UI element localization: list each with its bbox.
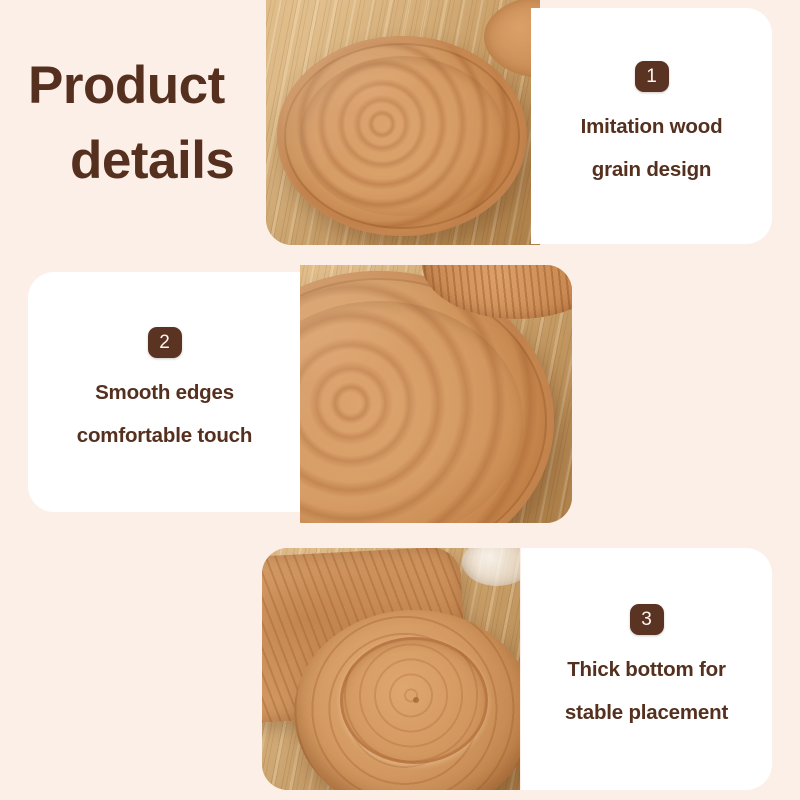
feature-text-1-line-1: Imitation wood bbox=[581, 106, 723, 148]
page-title: Product details bbox=[18, 48, 268, 199]
feature-text-3-line-2: stable placement bbox=[565, 692, 728, 734]
product-details-infographic: Product details 1 Imitation wood grain d… bbox=[0, 0, 800, 800]
feature-badge-2: 2 bbox=[148, 327, 182, 358]
plate-foot-ring bbox=[340, 637, 489, 765]
feature-photo-3 bbox=[262, 548, 520, 790]
feature-card-1: 1 Imitation wood grain design bbox=[531, 8, 772, 244]
feature-text-1: Imitation wood grain design bbox=[581, 106, 723, 190]
feature-text-1-line-2: grain design bbox=[581, 149, 723, 191]
feature-text-3: Thick bottom for stable placement bbox=[565, 649, 728, 733]
plate-center-mark bbox=[413, 697, 419, 703]
feature-card-3: 3 Thick bottom for stable placement bbox=[521, 548, 772, 790]
page-title-line-1: Product bbox=[18, 48, 268, 123]
plate-gloss bbox=[277, 36, 527, 236]
feature-text-2-line-1: Smooth edges bbox=[77, 372, 252, 414]
feature-photo-2 bbox=[300, 265, 572, 523]
feature-text-2: Smooth edges comfortable touch bbox=[77, 372, 252, 456]
page-title-line-2: details bbox=[18, 123, 268, 198]
wooden-plate bbox=[277, 36, 527, 236]
feature-badge-3: 3 bbox=[630, 604, 664, 635]
feature-badge-1: 1 bbox=[635, 61, 669, 92]
feature-text-2-line-2: comfortable touch bbox=[77, 415, 252, 457]
feature-text-3-line-1: Thick bottom for bbox=[565, 649, 728, 691]
feature-card-2: 2 Smooth edges comfortable touch bbox=[28, 272, 301, 512]
feature-photo-1 bbox=[266, 0, 540, 245]
